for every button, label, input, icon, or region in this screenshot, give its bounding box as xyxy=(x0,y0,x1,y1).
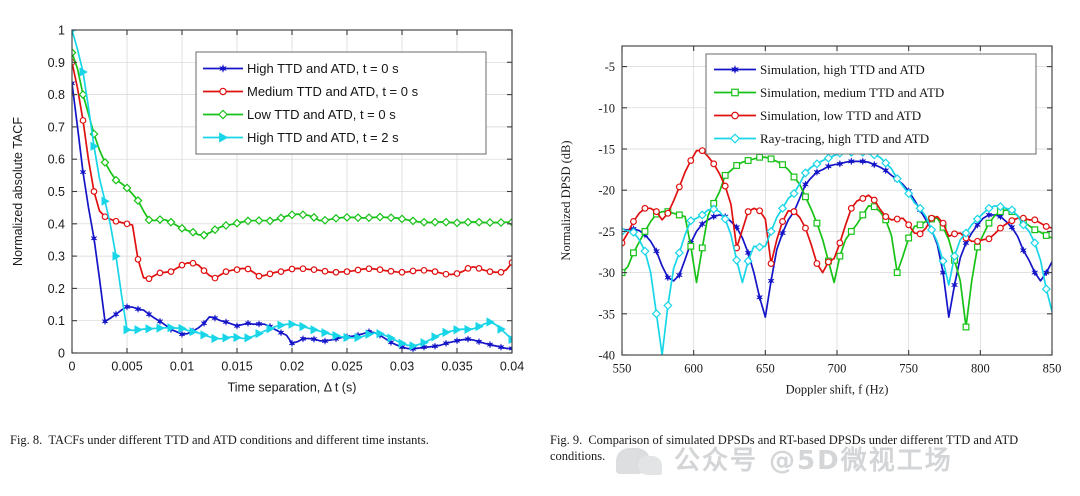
svg-text:0.035: 0.035 xyxy=(441,360,472,374)
svg-text:-5: -5 xyxy=(605,60,615,74)
svg-text:Simulation, high TTD and ATD: Simulation, high TTD and ATD xyxy=(760,62,925,77)
caption-text: TACFs under different TTD and ATD condit… xyxy=(48,433,429,447)
figure-caption-fig9: Fig. 9.Comparison of simulated DPSDs and… xyxy=(550,432,1070,464)
svg-text:Simulation, medium TTD and ATD: Simulation, medium TTD and ATD xyxy=(760,85,944,100)
svg-text:High TTD and ATD, t = 2 s: High TTD and ATD, t = 2 s xyxy=(247,130,399,145)
tacf-plot-container: 00.0050.010.0150.020.0250.030.0350.0400.… xyxy=(0,0,540,425)
svg-text:1: 1 xyxy=(58,24,65,38)
caption-label: Fig. 8. xyxy=(10,433,42,447)
svg-text:0.6: 0.6 xyxy=(48,153,65,167)
svg-text:0.01: 0.01 xyxy=(170,360,194,374)
svg-text:0.02: 0.02 xyxy=(280,360,304,374)
svg-text:0.03: 0.03 xyxy=(390,360,414,374)
figure-fig9: 550600650700750800850-5-10-15-20-25-30-3… xyxy=(540,0,1080,496)
svg-text:800: 800 xyxy=(971,362,990,376)
svg-text:High TTD and ATD, t = 0 s: High TTD and ATD, t = 0 s xyxy=(247,61,399,76)
figure-page: 00.0050.010.0150.020.0250.030.0350.0400.… xyxy=(0,0,1080,496)
svg-text:Ray-tracing, high TTD and ATD: Ray-tracing, high TTD and ATD xyxy=(760,131,929,146)
svg-text:-20: -20 xyxy=(598,184,615,198)
svg-text:Simulation, low TTD and ATD: Simulation, low TTD and ATD xyxy=(760,108,921,123)
svg-text:0.1: 0.1 xyxy=(48,314,65,328)
figure-caption-fig8: Fig. 8.TACFs under different TTD and ATD… xyxy=(10,432,530,448)
svg-text:Low TTD and ATD, t = 0 s: Low TTD and ATD, t = 0 s xyxy=(247,107,396,122)
svg-text:0.4: 0.4 xyxy=(48,217,65,231)
dpsd-plot-container: 550600650700750800850-5-10-15-20-25-30-3… xyxy=(540,0,1080,425)
svg-text:0: 0 xyxy=(58,347,65,361)
svg-text:-25: -25 xyxy=(598,225,615,239)
dpsd-chart: 550600650700750800850-5-10-15-20-25-30-3… xyxy=(540,0,1080,425)
svg-text:550: 550 xyxy=(613,362,632,376)
svg-text:700: 700 xyxy=(828,362,847,376)
svg-text:0.9: 0.9 xyxy=(48,56,65,70)
svg-text:0.7: 0.7 xyxy=(48,120,65,134)
svg-text:0.005: 0.005 xyxy=(111,360,142,374)
svg-text:Normalized absolute TACF: Normalized absolute TACF xyxy=(11,117,25,266)
caption-label: Fig. 9. xyxy=(550,433,582,447)
svg-text:750: 750 xyxy=(899,362,918,376)
svg-text:0.025: 0.025 xyxy=(331,360,362,374)
svg-text:0.3: 0.3 xyxy=(48,250,65,264)
svg-text:-40: -40 xyxy=(598,349,615,363)
svg-text:Medium TTD and ATD, t = 0 s: Medium TTD and ATD, t = 0 s xyxy=(247,84,419,99)
svg-text:Time separation, Δ t (s): Time separation, Δ t (s) xyxy=(228,381,357,395)
caption-text: Comparison of simulated DPSDs and RT-bas… xyxy=(550,433,1018,463)
svg-text:-35: -35 xyxy=(598,307,615,321)
svg-text:600: 600 xyxy=(684,362,703,376)
svg-text:850: 850 xyxy=(1043,362,1062,376)
svg-text:-15: -15 xyxy=(598,143,615,157)
svg-text:Normalized DPSD (dB): Normalized DPSD (dB) xyxy=(559,140,573,260)
svg-text:0: 0 xyxy=(69,360,76,374)
svg-text:0.2: 0.2 xyxy=(48,282,65,296)
figure-fig8: 00.0050.010.0150.020.0250.030.0350.0400.… xyxy=(0,0,540,496)
tacf-chart: 00.0050.010.0150.020.0250.030.0350.0400.… xyxy=(0,0,540,425)
svg-text:0.015: 0.015 xyxy=(221,360,252,374)
svg-text:0.8: 0.8 xyxy=(48,88,65,102)
svg-text:0.5: 0.5 xyxy=(48,185,65,199)
svg-text:Doppler shift, f (Hz): Doppler shift, f (Hz) xyxy=(786,383,889,397)
svg-text:-10: -10 xyxy=(598,101,615,115)
svg-text:650: 650 xyxy=(756,362,775,376)
svg-text:-30: -30 xyxy=(598,266,615,280)
svg-text:0.04: 0.04 xyxy=(500,360,524,374)
